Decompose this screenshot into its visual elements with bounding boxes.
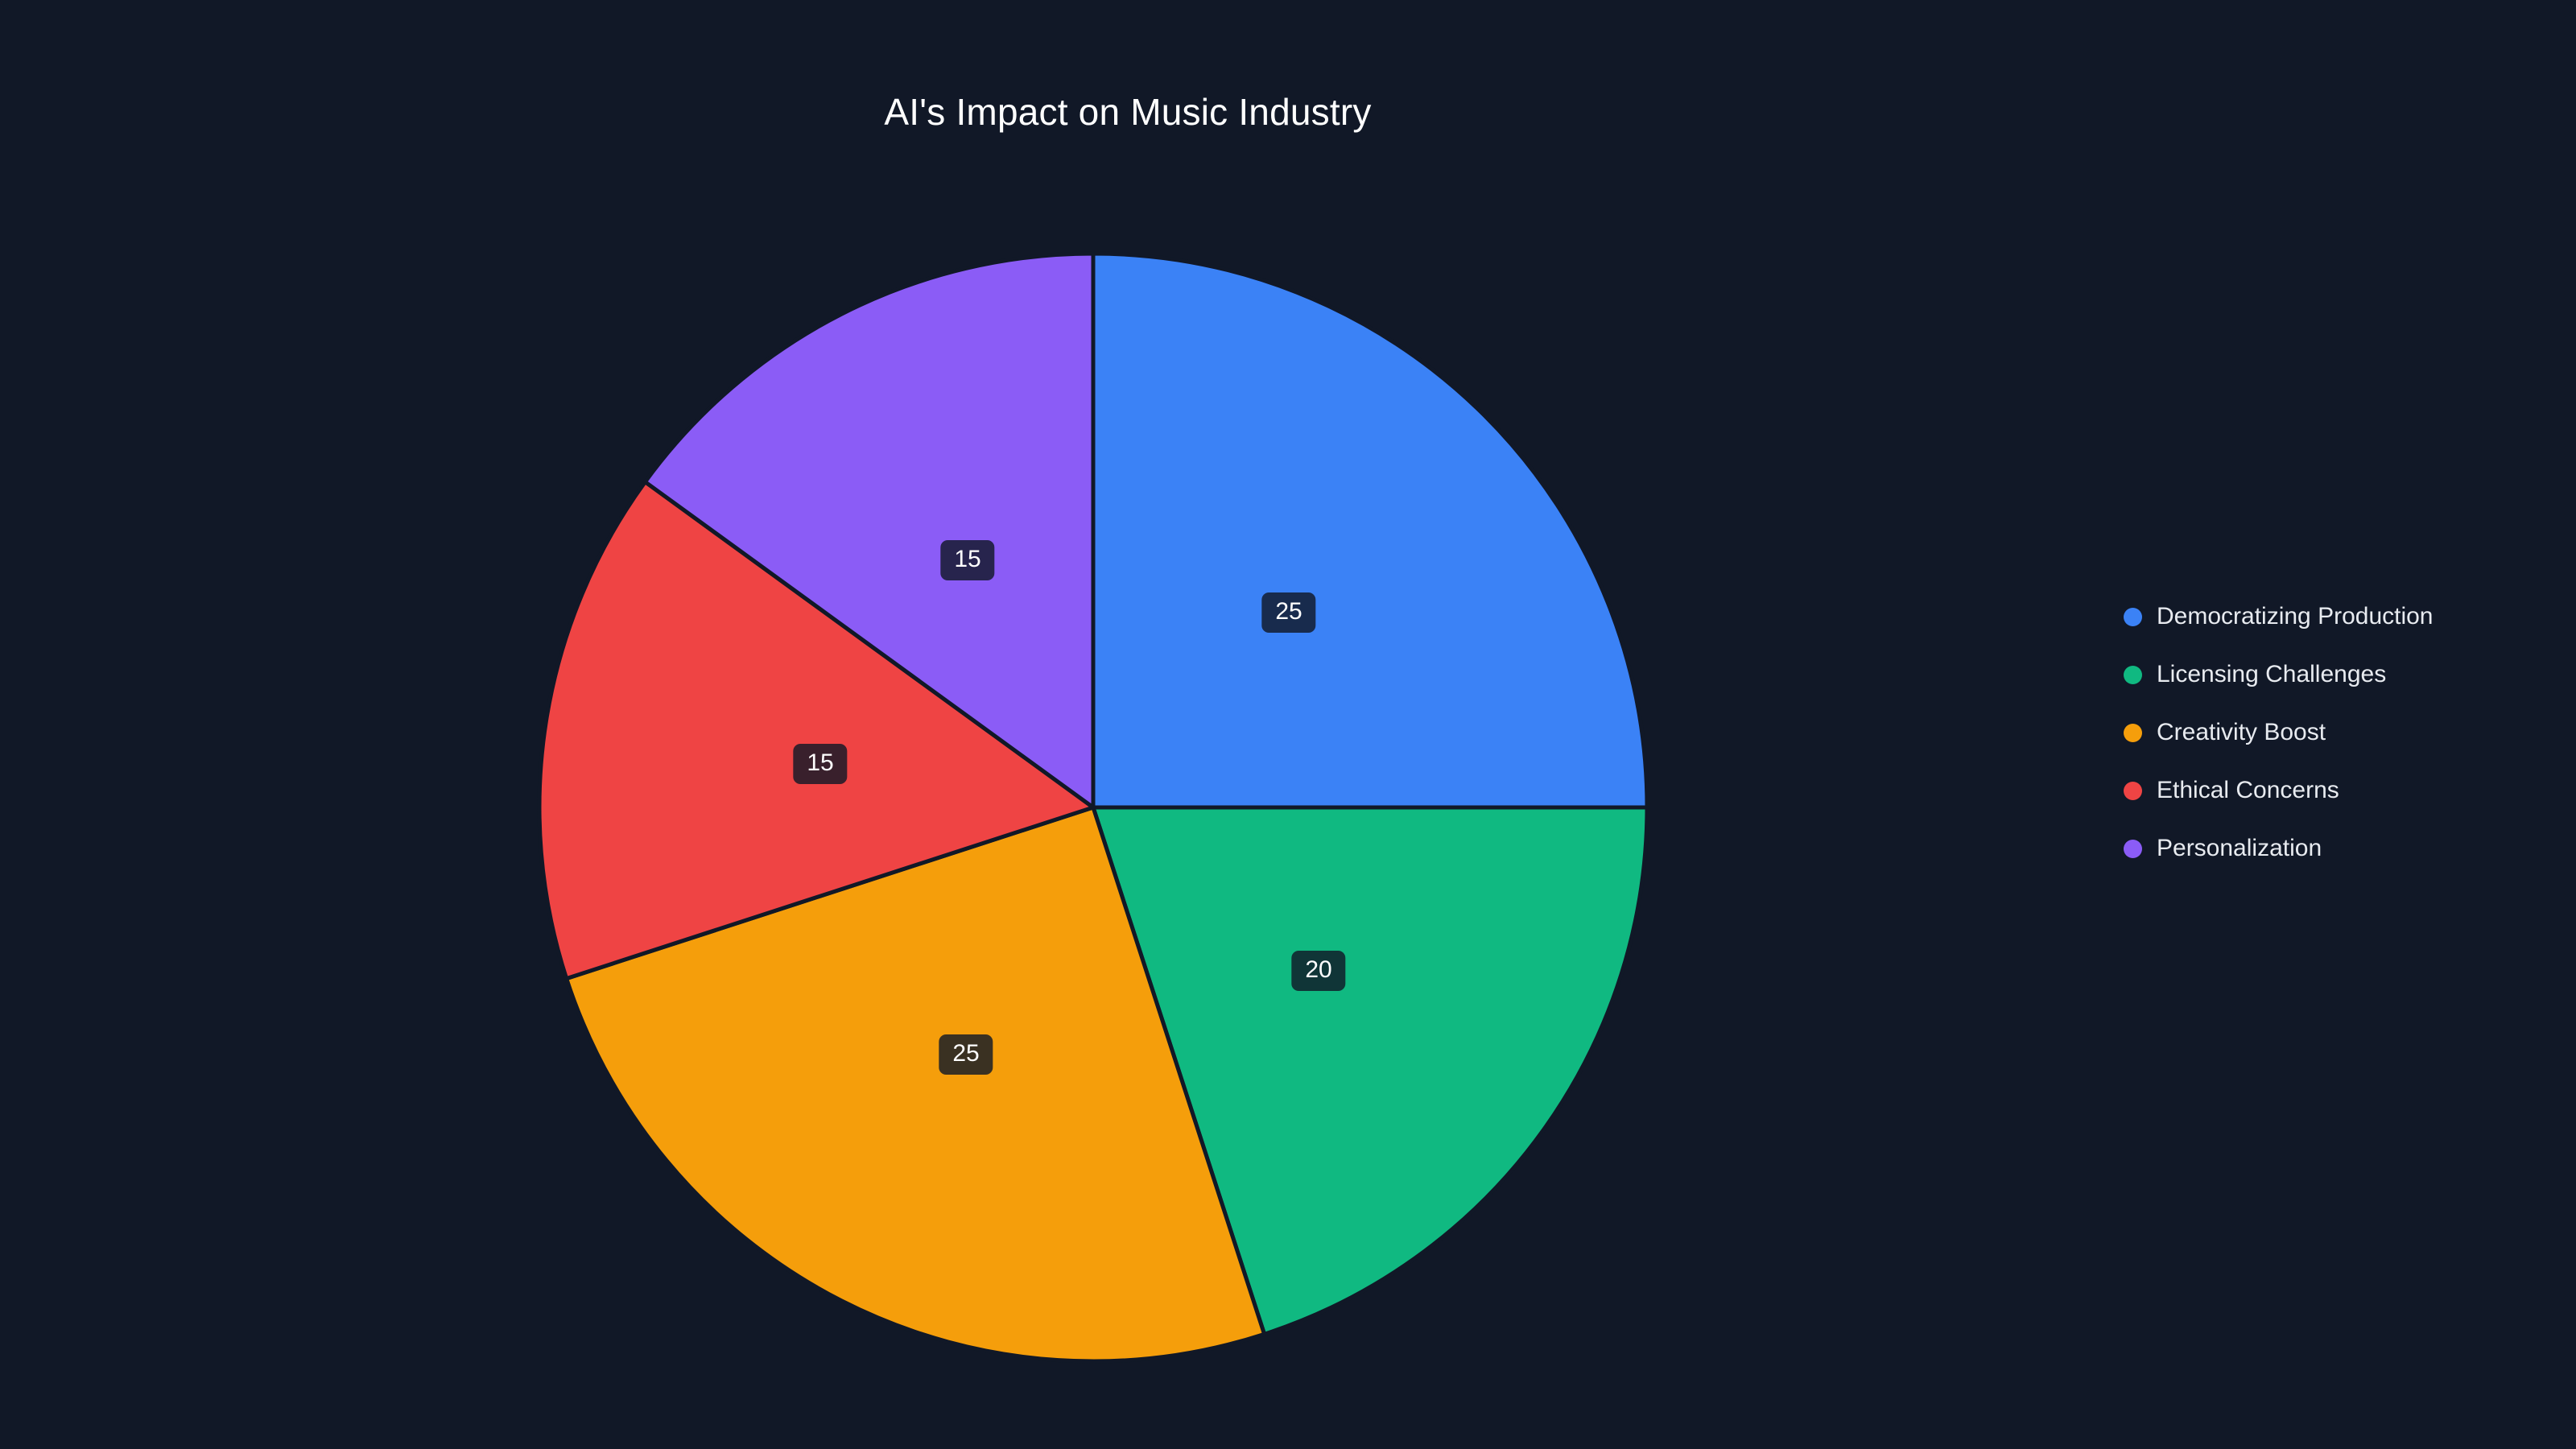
legend-swatch-icon xyxy=(2124,666,2142,684)
legend-item[interactable]: Creativity Boost xyxy=(2124,704,2434,762)
slice-value-label: 25 xyxy=(939,1034,993,1075)
plot-area: 2520251515 xyxy=(0,0,1972,1449)
legend-item[interactable]: Licensing Challenges xyxy=(2124,646,2434,704)
legend-swatch-icon xyxy=(2124,608,2142,626)
legend-swatch-icon xyxy=(2124,840,2142,858)
legend-item-label: Democratizing Production xyxy=(2157,605,2434,629)
legend-item-label: Creativity Boost xyxy=(2157,720,2326,745)
legend-item-label: Personalization xyxy=(2157,836,2322,861)
legend-item-label: Licensing Challenges xyxy=(2157,663,2386,687)
slice-value-label: 25 xyxy=(1261,592,1315,633)
legend-swatch-icon xyxy=(2124,782,2142,800)
slice-value-label: 20 xyxy=(1291,951,1345,991)
legend-item[interactable]: Ethical Concerns xyxy=(2124,762,2434,819)
pie-svg xyxy=(0,0,1972,1449)
pie-slice[interactable] xyxy=(1093,254,1647,807)
slice-value-label: 15 xyxy=(793,744,847,784)
legend-item[interactable]: Democratizing Production xyxy=(2124,588,2434,646)
legend-item-label: Ethical Concerns xyxy=(2157,778,2339,803)
pie-chart-figure: AI's Impact on Music Industry 2520251515… xyxy=(0,0,2576,1449)
chart-legend: Democratizing ProductionLicensing Challe… xyxy=(2124,588,2434,877)
slice-value-label: 15 xyxy=(940,540,994,580)
legend-item[interactable]: Personalization xyxy=(2124,819,2434,877)
legend-swatch-icon xyxy=(2124,724,2142,742)
